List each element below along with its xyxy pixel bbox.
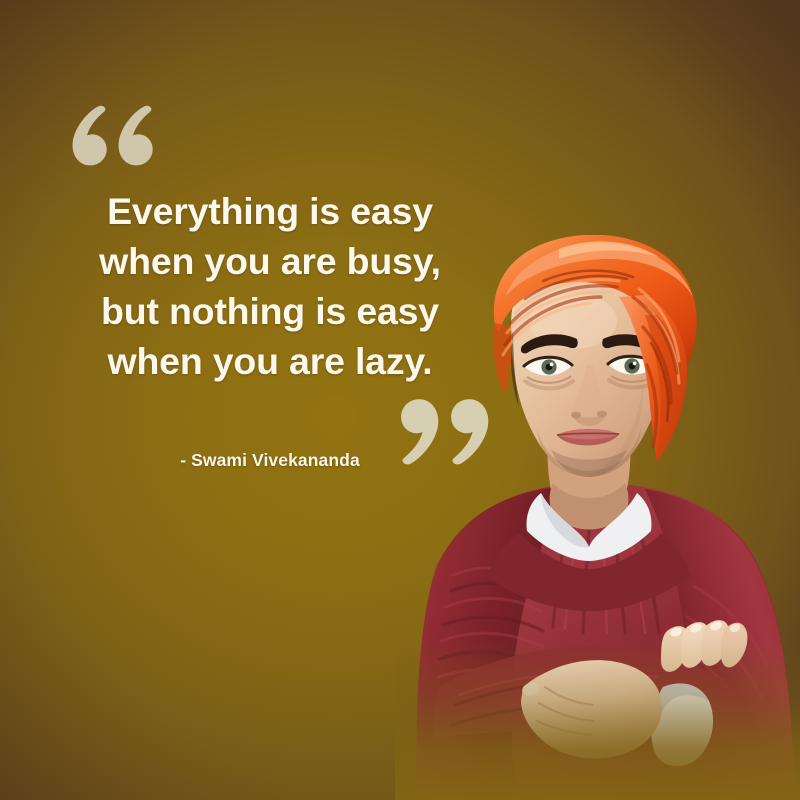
figure-bottom-fade [395,635,800,800]
quote-card: Everything is easy when you are busy, bu… [0,0,800,800]
quote-line-1: Everything is easy [30,186,510,236]
portrait-illustration [395,235,800,800]
